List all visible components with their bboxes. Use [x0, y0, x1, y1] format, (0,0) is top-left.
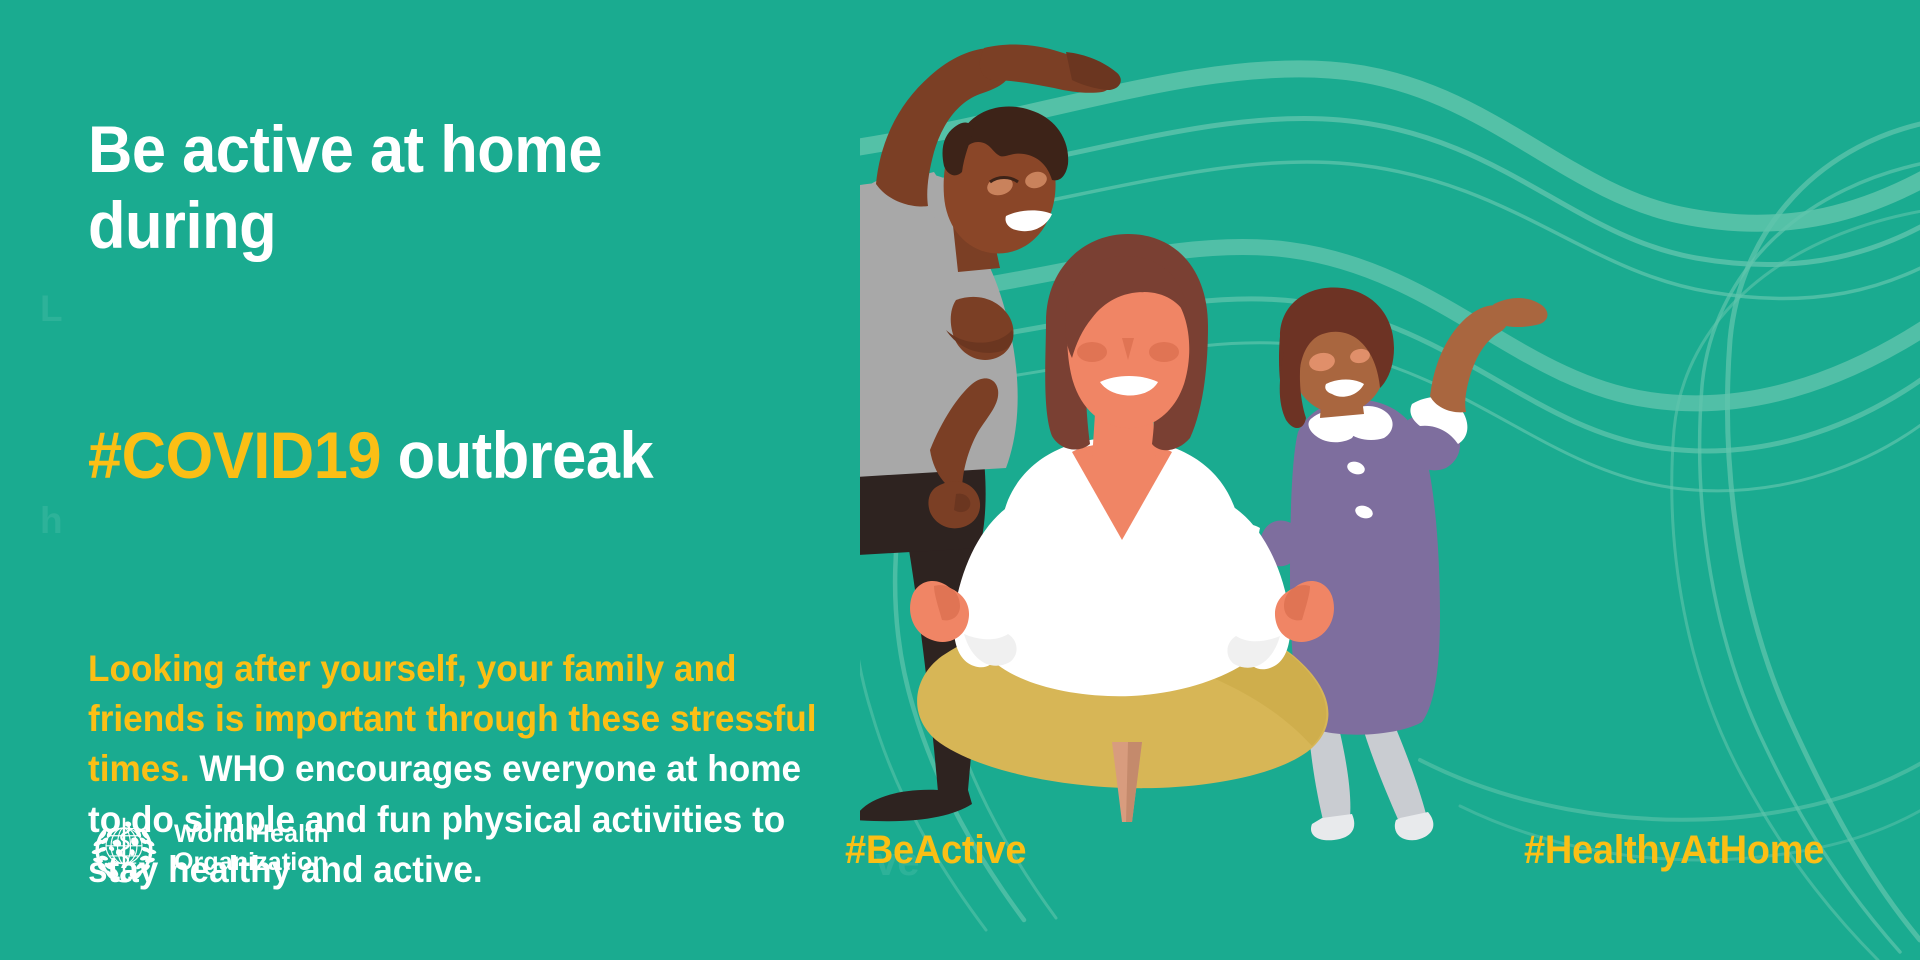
who-wordmark-text: World Health Organization: [174, 820, 329, 876]
covid19-hashtag: #COVID19: [88, 418, 381, 492]
headline-line-2: #COVID19 outbreak: [88, 340, 795, 493]
hashtag-healthyathome[interactable]: #HealthyAtHome: [1524, 828, 1824, 873]
headline-outbreak-word: outbreak: [381, 418, 653, 492]
poster-headline: Be active at home during #COVID19 outbre…: [88, 34, 795, 570]
who-logo: World Health Organization: [88, 812, 329, 884]
ghost-text-artifact-2: h: [40, 500, 63, 542]
headline-line-1: Be active at home during: [88, 111, 795, 264]
ghost-text-artifact-1: L: [40, 288, 63, 330]
who-emblem-icon: [88, 812, 160, 884]
family-exercising-illustration: [860, 0, 1920, 960]
poster-canvas: L h Be active at home during #COVID19 ou…: [0, 0, 1920, 960]
hashtag-beactive[interactable]: #BeActive: [845, 828, 1026, 873]
text-content-column: Be active at home during #COVID19 outbre…: [88, 34, 848, 895]
